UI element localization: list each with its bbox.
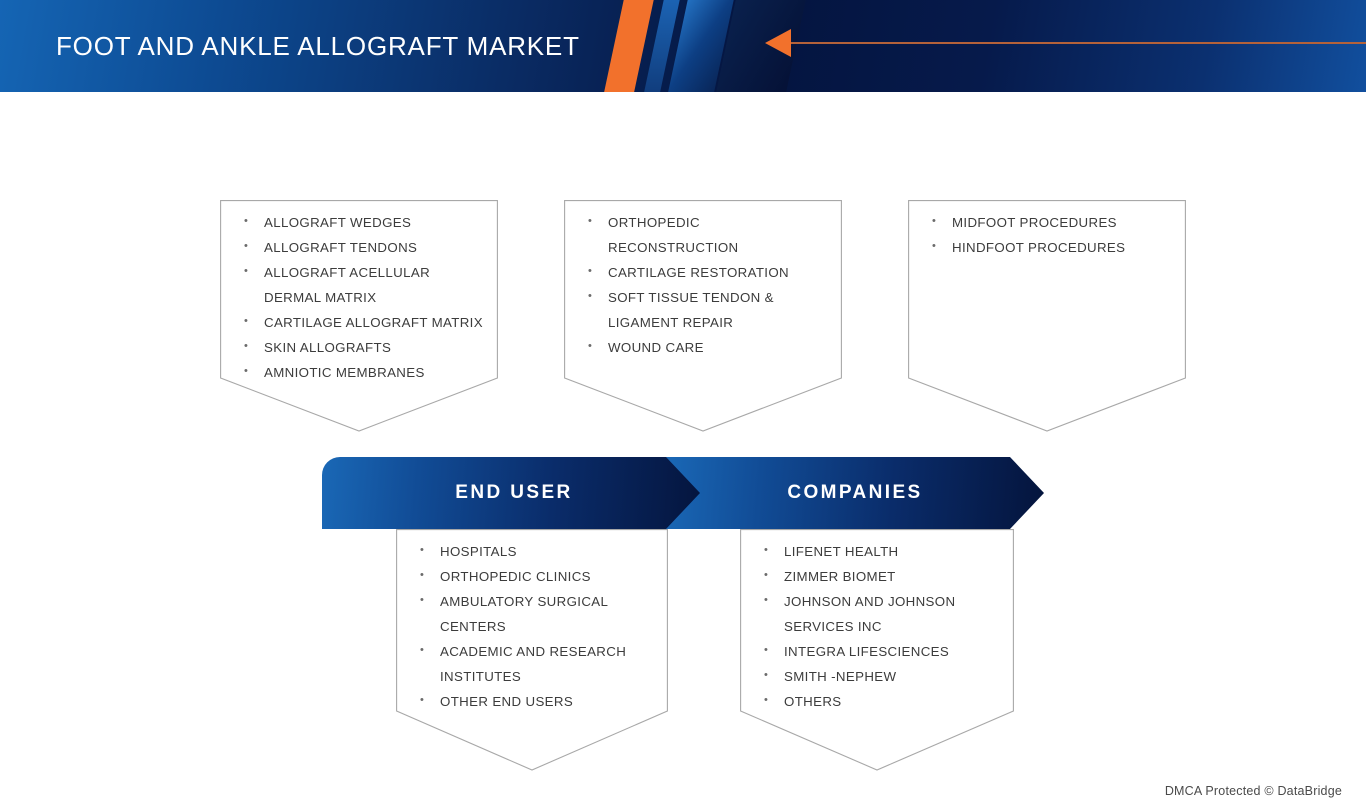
list-item: HINDFOOT PROCEDURES (930, 235, 1176, 260)
list-item: WOUND CARE (586, 335, 832, 360)
section-list-procedure: MIDFOOT PROCEDURES HINDFOOT PROCEDURES (930, 210, 1176, 260)
list-item: CARTILAGE RESTORATION (586, 260, 832, 285)
section-list-end-user: HOSPITALS ORTHOPEDIC CLINICS AMBULATORY … (418, 539, 658, 714)
section-header-end-user[interactable]: END USER (322, 457, 706, 529)
section-header-label: COMPANIES (787, 482, 922, 504)
list-item: ACADEMIC AND RESEARCH INSTITUTES (418, 639, 658, 689)
section-card-end-user: HOSPITALS ORTHOPEDIC CLINICS AMBULATORY … (396, 529, 668, 771)
list-item: SOFT TISSUE TENDON & LIGAMENT REPAIR (586, 285, 832, 335)
section-header-label: PROCEDURE (952, 153, 1095, 175)
section-header-procedure[interactable]: PROCEDURE (834, 128, 1214, 200)
list-item: INTEGRA LIFESCIENCES (762, 639, 1004, 664)
arrow-line (790, 42, 1366, 44)
list-item: OTHER END USERS (418, 689, 658, 714)
section-header-companies[interactable]: COMPANIES (666, 457, 1044, 529)
section-list-surgery-type: ORTHOPEDIC RECONSTRUCTION CARTILAGE REST… (586, 210, 832, 360)
list-item: ORTHOPEDIC CLINICS (418, 564, 658, 589)
section-list-companies: LIFENET HEALTH ZIMMER BIOMET JOHNSON AND… (762, 539, 1004, 714)
list-item: JOHNSON AND JOHNSON SERVICES INC (762, 589, 1004, 639)
header-banner: FOOT AND ANKLE ALLOGRAFT MARKET (0, 0, 1366, 92)
list-item: SKIN ALLOGRAFTS (242, 335, 488, 360)
list-item: MIDFOOT PROCEDURES (930, 210, 1176, 235)
list-item: LIFENET HEALTH (762, 539, 1004, 564)
section-list-product-type: ALLOGRAFT WEDGES ALLOGRAFT TENDONS ALLOG… (242, 210, 488, 385)
list-item: HOSPITALS (418, 539, 658, 564)
section-card-companies: LIFENET HEALTH ZIMMER BIOMET JOHNSON AND… (740, 529, 1014, 771)
section-card-surgery-type: ORTHOPEDIC RECONSTRUCTION CARTILAGE REST… (564, 200, 842, 432)
list-item: SMITH -NEPHEW (762, 664, 1004, 689)
list-item: ALLOGRAFT ACELLULAR DERMAL MATRIX (242, 260, 488, 310)
list-item: OTHERS (762, 689, 1004, 714)
section-header-label: SURGERY TYPE (594, 153, 771, 175)
list-item: ALLOGRAFT WEDGES (242, 210, 488, 235)
list-item: CARTILAGE ALLOGRAFT MATRIX (242, 310, 488, 335)
list-item: AMNIOTIC MEMBRANES (242, 360, 488, 385)
section-header-surgery-type[interactable]: SURGERY TYPE (490, 128, 874, 200)
footer-copyright: DMCA Protected © DataBridge (1165, 784, 1342, 798)
section-card-product-type: ALLOGRAFT WEDGES ALLOGRAFT TENDONS ALLOG… (220, 200, 498, 432)
list-item: ORTHOPEDIC RECONSTRUCTION (586, 210, 832, 260)
section-card-procedure: MIDFOOT PROCEDURES HINDFOOT PROCEDURES (908, 200, 1186, 432)
arrow-left-icon (765, 29, 791, 57)
section-header-product-type[interactable]: PRODUCT TYPE (146, 128, 530, 200)
page-title: FOOT AND ANKLE ALLOGRAFT MARKET (56, 31, 580, 62)
list-item: ZIMMER BIOMET (762, 564, 1004, 589)
list-item: AMBULATORY SURGICAL CENTERS (418, 589, 658, 639)
section-header-label: END USER (455, 482, 572, 504)
section-header-label: PRODUCT TYPE (249, 153, 427, 175)
list-item: ALLOGRAFT TENDONS (242, 235, 488, 260)
